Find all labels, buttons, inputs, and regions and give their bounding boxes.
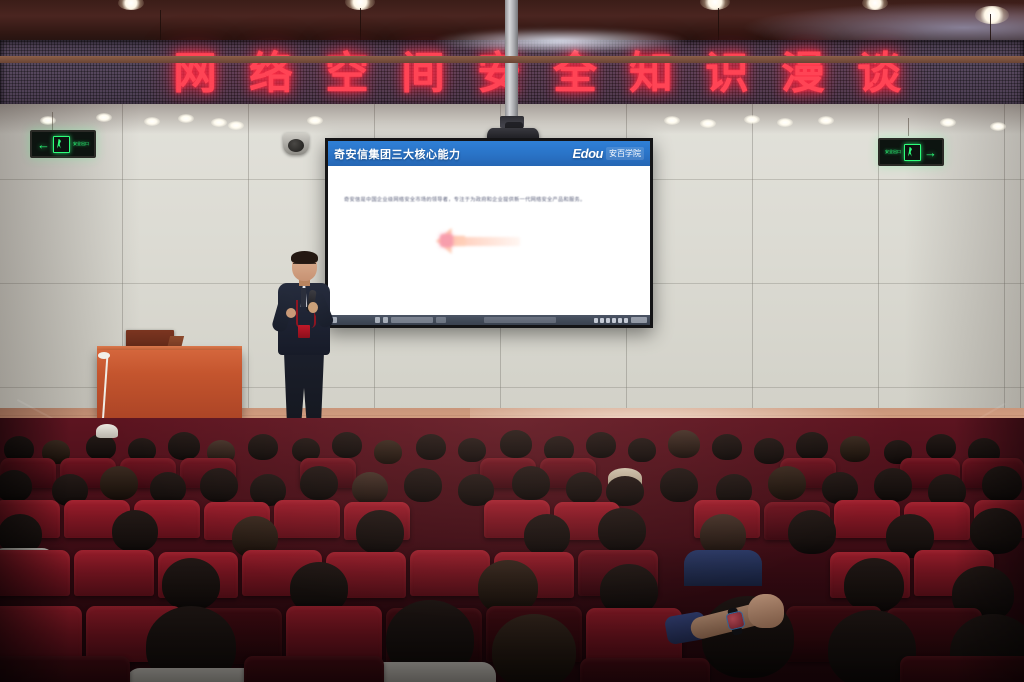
exit-sign-right-wire <box>908 118 909 136</box>
taskbar-clock <box>631 317 647 323</box>
audience-head <box>248 434 278 460</box>
audience-head <box>874 468 912 502</box>
wall-spotlight <box>744 115 760 124</box>
audience-area <box>0 418 1024 682</box>
exit-sign-left-wire <box>52 112 53 130</box>
audience-head <box>796 432 828 460</box>
ceiling-hang-wire <box>990 14 991 42</box>
wall-spotlight <box>178 114 194 123</box>
speaker-hand-left <box>286 308 296 318</box>
taskbar-active-window <box>484 317 556 323</box>
projector-mount-pole <box>505 0 518 132</box>
exit-sign-left-label: 安全出口 <box>73 142 89 146</box>
podium <box>97 350 242 418</box>
exit-sign-left: ← 安全出口 <box>30 130 96 158</box>
edou-logo-chinese: 安百学院 <box>606 147 644 160</box>
tray-icon <box>606 318 610 323</box>
audience-shoulders <box>684 550 762 586</box>
audience-shoulders <box>126 668 258 682</box>
theater-seat <box>244 656 384 682</box>
audience-head <box>512 466 550 500</box>
exit-sign-right-label: 安全出口 <box>885 150 901 154</box>
tray-icon <box>618 318 622 323</box>
audience-head <box>524 514 570 556</box>
hall-shadow-left <box>0 418 70 682</box>
slide-body: 奇安信是中国企业级网络安全市场的领导者，专注于为政府和企业提供新一代网络安全产品… <box>328 166 650 325</box>
theater-seat <box>74 550 154 596</box>
audience-head <box>712 434 742 460</box>
tray-icon <box>612 318 616 323</box>
taskbar-item <box>375 317 380 323</box>
wall-mounted-speaker <box>283 133 309 155</box>
auditorium-scene: 网 络 空 间 安 全 知 识 漫 谈 <box>0 0 1024 682</box>
ceiling-lamp <box>118 0 144 10</box>
podium-microphone <box>98 352 110 359</box>
audience-head <box>356 510 404 554</box>
audience-head <box>100 466 138 500</box>
audience-head <box>404 468 442 502</box>
audience-head <box>500 430 532 458</box>
audience-head <box>332 432 362 458</box>
audience-head <box>668 430 700 458</box>
audience-head <box>566 472 602 504</box>
edou-logo-wordmark: Edou <box>573 146 604 161</box>
audience-raised-arm <box>690 588 786 658</box>
speaker-hand-right <box>308 302 318 313</box>
theater-seat <box>580 658 710 682</box>
audience-head <box>586 432 616 458</box>
tray-icon <box>624 318 628 323</box>
audience-head <box>768 466 806 500</box>
arm-hand <box>748 594 784 628</box>
slide-title: 奇安信集团三大核心能力 <box>334 146 461 162</box>
speaker-name-badge <box>298 325 310 338</box>
wall-spotlight <box>700 119 716 128</box>
audience-head <box>788 510 836 554</box>
arrow-badge-icon <box>440 234 453 247</box>
tray-icon <box>600 318 604 323</box>
audience-head <box>840 436 870 462</box>
audience-head <box>844 558 904 612</box>
audience-head <box>168 432 200 460</box>
wall-spotlight <box>144 117 160 126</box>
theater-seat <box>274 500 340 538</box>
audience-head <box>162 558 220 610</box>
audience-white-cap <box>96 424 118 438</box>
audience-head <box>352 472 388 504</box>
led-banner-sheen <box>430 28 690 54</box>
glasses-icon <box>293 263 316 268</box>
audience-shoulders <box>368 662 496 682</box>
speaker-presenter <box>272 252 334 442</box>
slide-arrow-graphic <box>436 228 520 254</box>
audience-head <box>660 468 698 502</box>
edou-logo: Edou 安百学院 <box>573 146 645 161</box>
windows-taskbar <box>328 315 650 325</box>
wall-spotlight <box>40 116 56 125</box>
tray-icon <box>594 318 598 323</box>
audience-head <box>300 466 338 500</box>
slide-title-bar: 奇安信集团三大核心能力 Edou 安百学院 <box>328 141 650 166</box>
audience-head <box>374 440 402 464</box>
wall-spotlight <box>940 118 956 127</box>
audience-head <box>492 614 576 682</box>
arrow-right-icon: → <box>924 146 937 159</box>
audience-head <box>926 434 956 460</box>
projection-screen: 奇安信集团三大核心能力 Edou 安百学院 奇安信是中国企业级网络安全市场的领导… <box>325 138 653 328</box>
audience-head <box>598 508 646 552</box>
audience-head <box>416 434 446 460</box>
projected-slide: 奇安信集团三大核心能力 Edou 安百学院 奇安信是中国企业级网络安全市场的领导… <box>328 141 650 325</box>
audience-head <box>628 438 656 462</box>
theater-seat <box>286 606 382 662</box>
ceiling-hang-wire <box>160 10 161 42</box>
wall-spotlight <box>228 121 244 130</box>
ceiling-lamp <box>975 6 1009 24</box>
ceiling-hang-wire <box>718 8 719 42</box>
wall-spotlight <box>777 118 793 127</box>
hall-shadow-right <box>954 418 1024 682</box>
running-person-exit-icon <box>53 136 70 153</box>
taskbar-item <box>383 317 388 323</box>
wall-spotlight <box>307 116 323 125</box>
wall-spotlight <box>664 116 680 125</box>
slide-subtext: 奇安信是中国企业级网络安全市场的领导者，专注于为政府和企业提供新一代网络安全产品… <box>344 196 634 203</box>
wall-spotlight <box>211 118 227 127</box>
audience-head <box>754 438 784 464</box>
exit-sign-right: 安全出口 → <box>878 138 944 166</box>
audience-head <box>458 438 486 462</box>
taskbar-item <box>436 317 446 323</box>
taskbar-tray <box>594 318 628 323</box>
stage-front-edge <box>0 56 1024 63</box>
taskbar-item <box>391 317 433 323</box>
audience-head <box>112 510 158 552</box>
running-person-exit-icon <box>904 144 921 161</box>
arrow-shaft <box>458 237 520 246</box>
arrow-left-icon: ← <box>37 138 50 151</box>
wall-spotlight <box>818 116 834 125</box>
ceiling-hang-wire <box>360 8 361 42</box>
wall-spotlight <box>96 113 112 122</box>
audience-head <box>200 468 238 502</box>
wall-spotlight <box>990 122 1006 131</box>
